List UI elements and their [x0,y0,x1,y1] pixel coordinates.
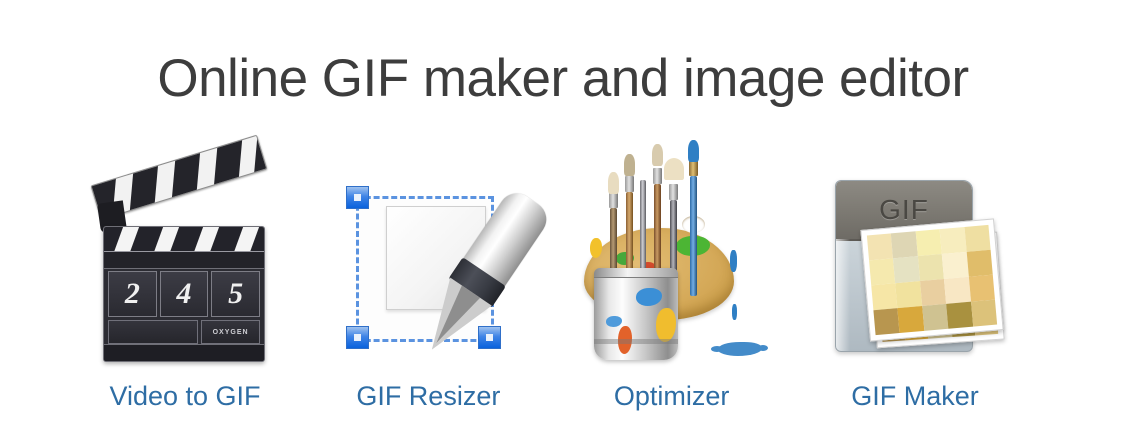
mosaic-cell [966,250,992,277]
mosaic-cell [922,304,948,331]
page-root: Online GIF maker and image editor [0,0,1126,446]
tool-label-gif-resizer: GIF Resizer [356,380,500,412]
mosaic-cell [867,233,893,260]
mosaic-cell [944,277,970,304]
clapperboard-brand-text: OXYGEN [213,329,249,336]
mosaic-cell [893,256,919,283]
clapperboard-brand-panel: OXYGEN [201,320,260,344]
mosaic-cell [964,225,990,252]
paint-palette-brushes-icon[interactable] [572,170,772,370]
clapperboard-digit: 4 [160,271,209,317]
resize-handle-top-left[interactable] [346,186,369,209]
resize-handle-bottom-right[interactable] [478,326,501,349]
clapperboard-body: 2 4 5 OXYGEN [103,226,265,362]
tool-card-video-to-gif[interactable]: 2 4 5 OXYGEN Video to GIF [70,152,300,412]
tool-card-gif-resizer[interactable]: GIF Resizer [313,152,543,412]
photo-thumbnail-front [860,218,1003,341]
clapperboard-digit: 2 [108,271,157,317]
clapperboard-number-row: 2 4 5 [108,271,260,317]
mosaic-cell [896,281,922,308]
gif-folder-photos-icon[interactable]: GIF [815,170,1015,370]
tool-card-optimizer[interactable]: Optimizer [557,152,787,412]
clapperboard-digit: 5 [211,271,260,317]
mosaic-cell [873,308,899,335]
mosaic-cell [920,279,946,306]
resize-handle-bottom-left[interactable] [346,326,369,349]
mosaic-cell [918,254,944,281]
mosaic-cell [940,227,966,254]
mosaic-cell [968,275,994,302]
clapperboard-blank-panel [108,320,198,344]
tool-list: 2 4 5 OXYGEN Video to GIF [70,152,1030,412]
mosaic-cell [891,231,917,258]
mosaic-cell [871,283,897,310]
mosaic-cell [942,252,968,279]
page-title: Online GIF maker and image editor [0,48,1126,110]
mosaic-cell [971,300,997,327]
brush-cup-icon [594,268,678,360]
tool-label-video-to-gif: Video to GIF [109,380,260,412]
selection-pen-icon[interactable] [328,170,528,370]
mosaic-cell [946,302,972,329]
photo-mosaic-front [867,225,997,335]
paint-splatter-icon [718,342,762,356]
tool-label-optimizer: Optimizer [614,380,730,412]
clapperboard-icon[interactable]: 2 4 5 OXYGEN [85,170,285,370]
gif-folder-label: GIF [879,194,929,226]
tool-card-gif-maker[interactable]: GIF GIF Maker [800,152,1030,412]
tool-label-gif-maker: GIF Maker [851,380,979,412]
mosaic-cell [915,229,941,256]
mosaic-cell [869,258,895,285]
paint-drip-icon [732,304,737,320]
mosaic-cell [898,306,924,333]
paint-drip-icon [730,250,737,272]
